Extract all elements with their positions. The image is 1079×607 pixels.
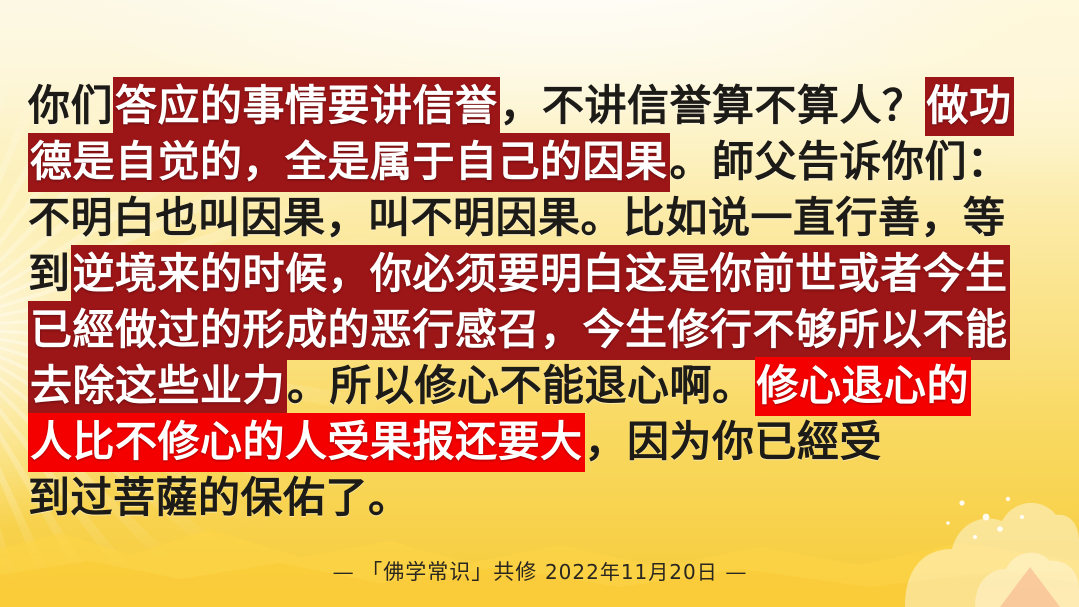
text-line: 到逆境来的时候，你必须要明白这是你前世或者今生 — [0, 246, 1079, 302]
footer-attribution: — 「佛学常识」共修 2022年11月20日 — — [0, 556, 1079, 586]
footer-title: 「佛学常识」共修 — [361, 560, 537, 584]
teaching-text-body: 你们答应的事情要讲信誉，不讲信誉算不算人？做功德是自觉的，全是属于自己的因果。師… — [0, 78, 1079, 526]
text-line: 你们答应的事情要讲信誉，不讲信誉算不算人？做功 — [0, 78, 1079, 134]
footer-date: 2022年11月20日 — [545, 560, 718, 584]
text-line: 德是自觉的，全是属于自己的因果。師父告诉你们： — [0, 134, 1079, 190]
text-segment-plain: ，不讲信誉算不算人？ — [500, 81, 925, 130]
text-line: 不明白也叫因果，叫不明因果。比如说一直行善，等 — [0, 190, 1079, 246]
footer-dash-left: — — [333, 560, 354, 584]
text-segment-plain: 你们 — [28, 81, 113, 130]
slide-canvas: 你们答应的事情要讲信誉，不讲信誉算不算人？做功德是自觉的，全是属于自己的因果。師… — [0, 0, 1079, 607]
text-segment-highlight-dark: 答应的事情要讲信誉 — [113, 77, 500, 136]
text-segment-highlight-dark: 德是自觉的，全是属于自己的因果 — [28, 133, 670, 192]
text-segment-highlight-bright: 修心退心的 — [755, 357, 972, 416]
text-segment-highlight-dark: 逆境来的时候，你必须要明白这是你前世或者今生 — [71, 245, 1010, 304]
text-segment-plain: 到 — [28, 249, 71, 298]
text-segment-plain: 到过菩薩的保佑了。 — [28, 473, 411, 522]
text-line: 去除这些业力。所以修心不能退心啊。修心退心的 — [0, 358, 1079, 414]
footer-dash-right: — — [725, 560, 746, 584]
text-segment-highlight-bright: 人比不修心的人受果报还要大 — [28, 413, 585, 472]
text-segment-plain: ，因为你已經受 — [585, 417, 883, 466]
text-segment-highlight-dark: 做功 — [925, 77, 1014, 136]
text-line: 人比不修心的人受果报还要大，因为你已經受 — [0, 414, 1079, 470]
text-segment-highlight-dark: 已經做过的形成的恶行感召，今生修行不够所以不能 — [28, 301, 1010, 360]
text-segment-plain: 不明白也叫因果，叫不明因果。比如说一直行善，等 — [28, 193, 1006, 242]
text-line: 已經做过的形成的恶行感召，今生修行不够所以不能 — [0, 302, 1079, 358]
text-line: 到过菩薩的保佑了。 — [0, 470, 1079, 526]
text-segment-highlight-dark: 去除这些业力 — [28, 357, 287, 416]
text-segment-plain: 。師父告诉你们： — [670, 137, 1010, 186]
text-segment-plain: 。所以修心不能退心啊。 — [287, 361, 755, 410]
